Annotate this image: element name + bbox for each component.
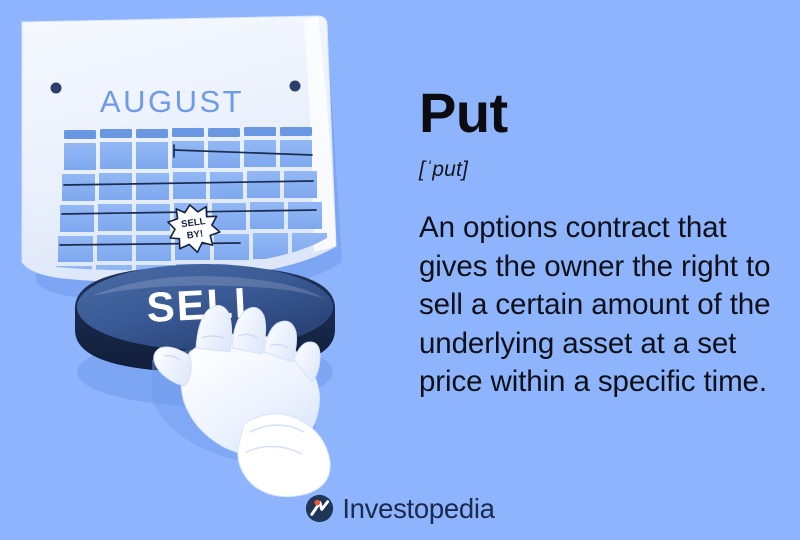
- illustration: AUGUST: [0, 0, 400, 500]
- brand-wordmark: Investopedia: [342, 494, 494, 523]
- calendar-hole-punch-right: [290, 81, 301, 92]
- page-title: Put: [419, 84, 775, 142]
- calendar-row: [62, 171, 317, 201]
- calendar: AUGUST: [22, 16, 336, 290]
- definition-card: AUGUST: [0, 0, 800, 540]
- brand-footer: Investopedia: [0, 488, 800, 528]
- calendar-month-label: AUGUST: [100, 84, 244, 119]
- calendar-row: [64, 140, 312, 170]
- pronunciation: [ˈput]: [419, 158, 775, 182]
- definition-text: An options contract that gives the owner…: [419, 209, 775, 402]
- investopedia-logo-icon: [305, 494, 334, 523]
- term-text-column: Put [ˈput] An options contract that give…: [419, 84, 775, 402]
- badge-line-2: BY!: [186, 228, 204, 241]
- calendar-hole-punch-left: [51, 83, 62, 94]
- wrist-cuff: [238, 414, 330, 497]
- illustration-svg: AUGUST: [0, 0, 400, 500]
